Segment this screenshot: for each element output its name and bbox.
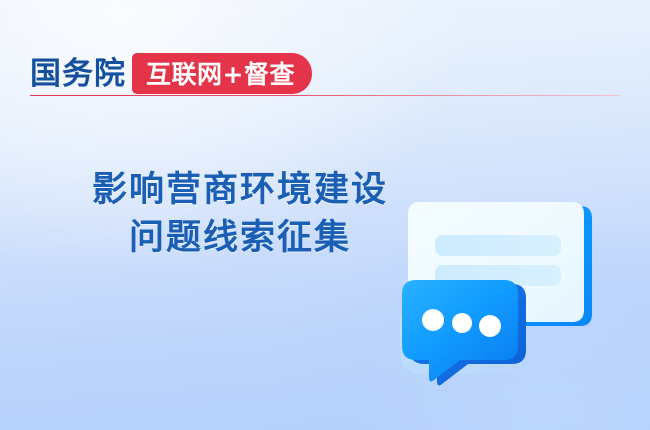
- header-divider-rule: [30, 95, 620, 96]
- page-title-line-1: 影响营商环境建设: [0, 166, 480, 214]
- typing-dot-3: [479, 315, 501, 337]
- page-title-line-2: 问题线索征集: [0, 214, 480, 262]
- gov-name-label: 国务院: [30, 59, 128, 90]
- typing-dot-2: [452, 313, 472, 333]
- campaign-badge-label: 互联网+督查: [146, 62, 295, 87]
- campaign-badge: 互联网+督查: [132, 53, 312, 94]
- banner-header: 国务院 互联网+督查: [30, 52, 312, 94]
- typing-dot-1: [422, 309, 444, 331]
- page-title: 影响营商环境建设 问题线索征集: [0, 166, 480, 262]
- banner-root: 国务院 互联网+督查 影响营商环境建设 问题线索征集: [0, 0, 650, 430]
